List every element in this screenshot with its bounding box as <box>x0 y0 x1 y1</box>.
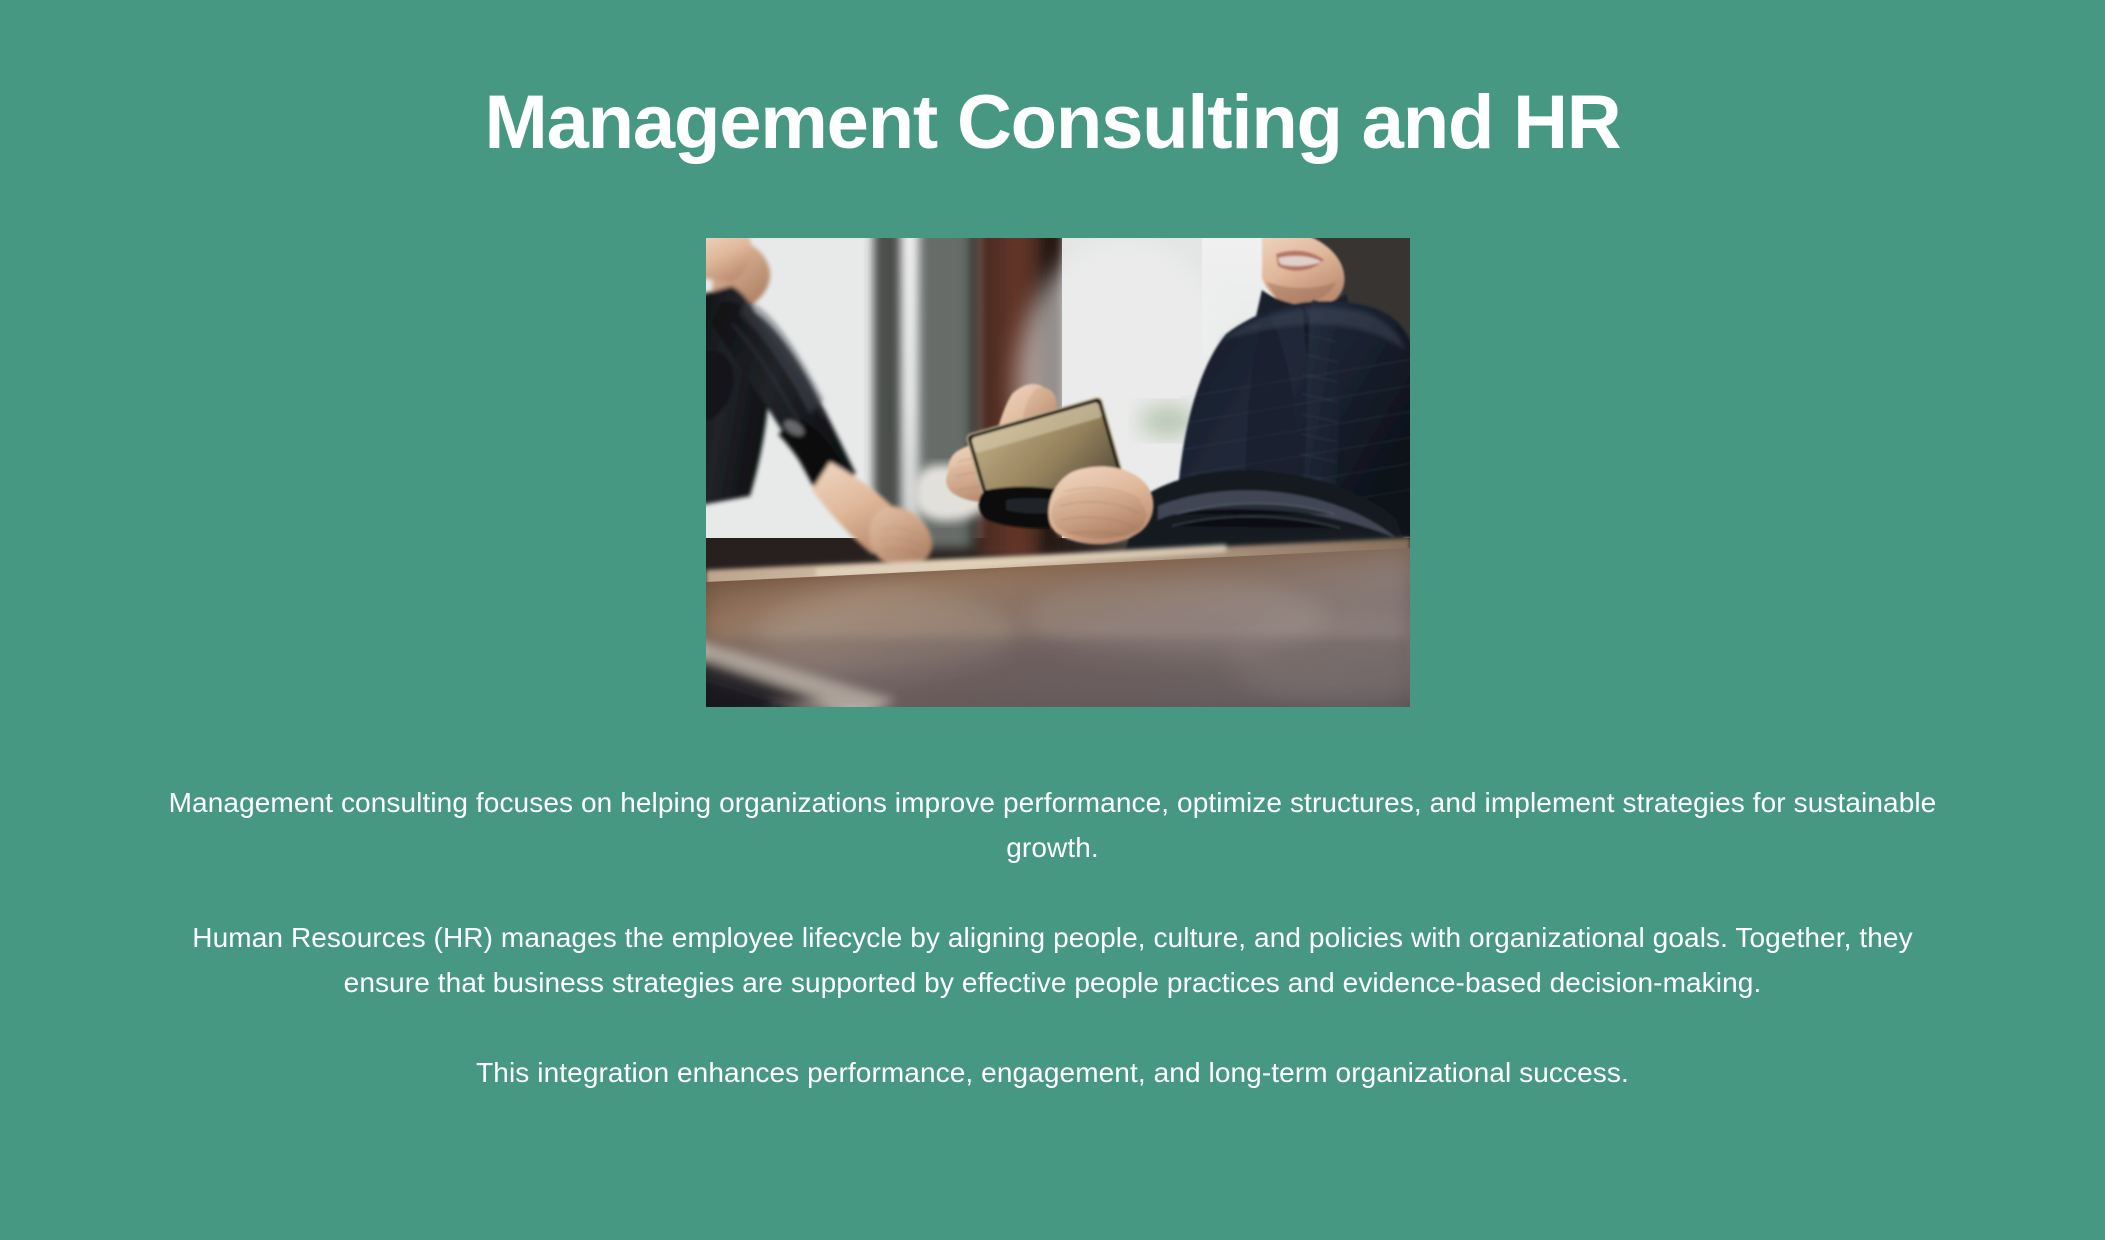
paragraph-spacer <box>152 1005 1953 1050</box>
business-meeting-photo <box>706 238 1410 707</box>
paragraph-3: This integration enhances performance, e… <box>152 1050 1953 1095</box>
page-title: Management Consulting and HR <box>0 82 2105 164</box>
photo-illustration <box>706 238 1410 707</box>
paragraph-spacer <box>152 870 1953 915</box>
paragraph-1: Management consulting focuses on helping… <box>152 780 1953 870</box>
slide-root: Management Consulting and HR <box>0 0 2105 1240</box>
paragraph-2: Human Resources (HR) manages the employe… <box>152 915 1953 1005</box>
body-copy: Management consulting focuses on helping… <box>152 780 1953 1095</box>
